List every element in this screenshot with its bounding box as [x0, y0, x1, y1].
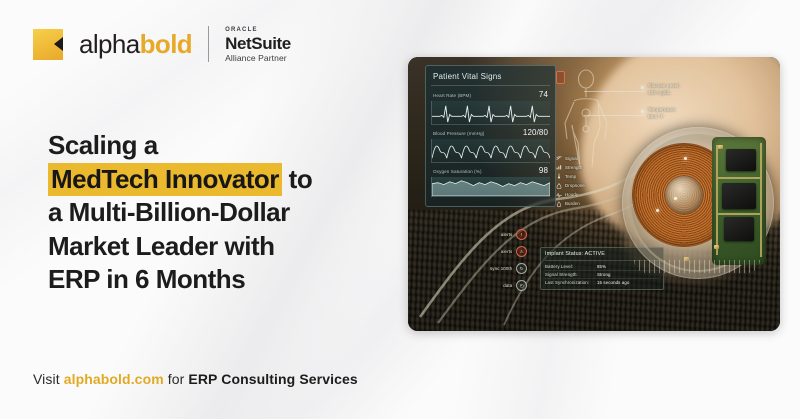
callout-glucose-level: Glucose Level: 105 mg/dL	[648, 83, 680, 96]
pcb-chip-2	[722, 183, 756, 209]
headline-line-2: MedTech Innovator to	[48, 163, 378, 197]
metric-label-temp: Temp	[565, 174, 576, 179]
bp-axis-ticks: ···	[431, 139, 437, 162]
last-sync-value: 15 seconds ago	[597, 280, 629, 285]
last-sync-key: Last Synchronization:	[545, 280, 597, 285]
metric-label-dropsone: Dropsone	[565, 183, 585, 188]
ecg-axis-ticks: ···	[431, 101, 437, 124]
clock-badge-icon: ◴	[516, 280, 527, 291]
metric-list: Signal Strength Temp Dropsone	[556, 155, 585, 207]
badge-row-sync: sync 100th ↻	[490, 263, 527, 274]
implant-status-label: Implant Status:	[545, 251, 583, 257]
coil-center-hub	[665, 176, 703, 214]
metric-item-burden: Burden	[556, 201, 585, 207]
headline-line-2-tail: to	[282, 164, 312, 194]
droplet-icon	[556, 183, 562, 189]
device-scale-markings	[634, 260, 760, 273]
metric-item-hourly: Hourly	[556, 192, 585, 198]
alert-badge-icon: !	[516, 229, 527, 240]
metric-label-strength: Strength	[565, 165, 582, 170]
device-speck-2	[656, 209, 659, 212]
badge-label-sync: sync 100th	[490, 266, 512, 271]
metric-item-strength: Strength	[556, 164, 585, 170]
badge-row-data: data ◴	[503, 280, 527, 291]
alliance-partner-label: Alliance Partner	[225, 54, 291, 63]
leader-line-glucose	[584, 91, 646, 92]
blood-pressure-waveform-chart: ···	[431, 139, 550, 163]
badge-row-alerts-2: alerts ⚠	[501, 246, 527, 257]
solder-pad-2	[714, 245, 719, 249]
thermo-icon	[556, 173, 562, 179]
headline-line-1: Scaling a	[48, 129, 378, 163]
pcb-trace-1	[716, 145, 718, 255]
signal-icon	[556, 155, 562, 161]
badge-label-alerts-2: alerts	[501, 249, 512, 254]
footer-cta: Visit alphabold.com for ERP Consulting S…	[33, 371, 358, 387]
metric-item-dropsone: Dropsone	[556, 183, 585, 189]
sync-badge-icon: ↻	[516, 263, 527, 274]
vitals-card-title: Patient Vital Signs	[431, 70, 550, 86]
temperature-value: 98.6 °F	[648, 114, 664, 119]
pcb-trace-2	[760, 143, 762, 257]
alert-badge-icon-2: ⚠	[516, 246, 527, 257]
bars-icon	[556, 164, 562, 170]
pcb-trace-3	[718, 177, 760, 179]
badge-label-data: data	[503, 283, 512, 288]
glucose-label: Glucose Level:	[648, 83, 680, 88]
logo-divider	[208, 26, 209, 62]
oxygen-saturation-area-chart: ···	[431, 177, 550, 197]
metric-item-temp: Temp	[556, 173, 585, 179]
wordmark-alpha: alpha	[79, 29, 140, 59]
vital-row-blood-pressure: Blood Pressure (mmHg) 120/80 ···	[431, 128, 550, 163]
heart-rate-value: 74	[539, 90, 548, 99]
battery-level-value: 85%	[597, 264, 606, 269]
ecg-waveform-chart: ···	[431, 101, 550, 125]
metric-item-signal: Signal	[556, 155, 585, 161]
temperature-label: Temperature:	[648, 107, 676, 112]
implant-row-sync: Last Synchronization: 15 seconds ago	[545, 279, 659, 286]
badge-row-alerts-1: alerts !	[501, 229, 527, 240]
badge-label-alerts-1: alerts	[501, 232, 512, 237]
logo-bar: alphabold ORACLE NetSuite Alliance Partn…	[33, 26, 291, 63]
implant-status-badge: ACTIVE	[585, 251, 605, 257]
patient-vital-signs-card: Patient Vital Signs Heart Rate (BPM) 74 …	[425, 65, 556, 207]
heart-rate-label: Heart Rate (BPM)	[433, 93, 471, 98]
glucose-value: 105 mg/dL	[648, 90, 671, 95]
pulse-icon	[556, 192, 562, 198]
callout-temperature: Temperature: 98.6 °F	[648, 107, 676, 120]
netsuite-label: NetSuite	[225, 35, 291, 52]
footer-prefix: Visit	[33, 371, 64, 387]
alphabold-website-link[interactable]: alphabold.com	[64, 371, 164, 387]
page-title: Scaling a MedTech Innovator to a Multi-B…	[48, 129, 378, 297]
pcb-chip-1	[726, 149, 756, 171]
leader-line-temperature	[584, 115, 646, 116]
pcb-chip-3	[724, 217, 754, 241]
oxygen-saturation-value: 98	[539, 166, 548, 175]
oracle-label: ORACLE	[225, 27, 291, 33]
drop-icon	[556, 201, 562, 207]
device-speck-3	[674, 197, 677, 200]
promo-slide: alphabold ORACLE NetSuite Alliance Partn…	[0, 0, 800, 419]
hero-image-panel: Patient Vital Signs Heart Rate (BPM) 74 …	[408, 57, 780, 331]
oxygen-saturation-label: Oxygen Saturation (%)	[433, 169, 482, 174]
wordmark-bold: bold	[140, 29, 192, 59]
spo2-axis-ticks: ···	[431, 177, 437, 196]
headline-line-5: ERP in 6 Months	[48, 263, 378, 297]
blood-pressure-label: Blood Pressure (mmHg)	[433, 131, 484, 136]
metric-label-burden: Burden	[565, 201, 580, 206]
metric-label-hourly: Hourly	[565, 192, 578, 197]
headline-line-3: a Multi-Billion-Dollar	[48, 196, 378, 230]
solder-pad-1	[718, 145, 723, 149]
netsuite-partner-badge: ORACLE NetSuite Alliance Partner	[225, 26, 291, 63]
footer-service-label: ERP Consulting Services	[188, 371, 357, 387]
vital-row-heart-rate: Heart Rate (BPM) 74 ···	[431, 90, 550, 125]
blood-pressure-value: 120/80	[523, 128, 548, 137]
status-badge-list: alerts ! alerts ⚠ sync 100th ↻ data ◴	[490, 229, 527, 291]
metric-label-signal: Signal	[565, 156, 578, 161]
vital-row-oxygen-saturation: Oxygen Saturation (%) 98 ···	[431, 166, 550, 197]
alphabold-wordmark: alphabold	[79, 31, 192, 57]
headline-line-4: Market Leader with	[48, 230, 378, 264]
device-speck-1	[684, 157, 687, 160]
pcb-board	[712, 137, 766, 265]
signal-strength-value: Strong	[597, 272, 611, 277]
battery-level-key: Battery Level:	[545, 264, 597, 269]
alphabold-mark-icon	[33, 29, 63, 60]
signal-strength-key: Signal Strength:	[545, 272, 597, 277]
pcb-trace-4	[718, 213, 760, 215]
medical-implant-device	[622, 127, 774, 279]
headline-highlight: MedTech Innovator	[48, 163, 282, 196]
footer-middle: for	[164, 371, 189, 387]
